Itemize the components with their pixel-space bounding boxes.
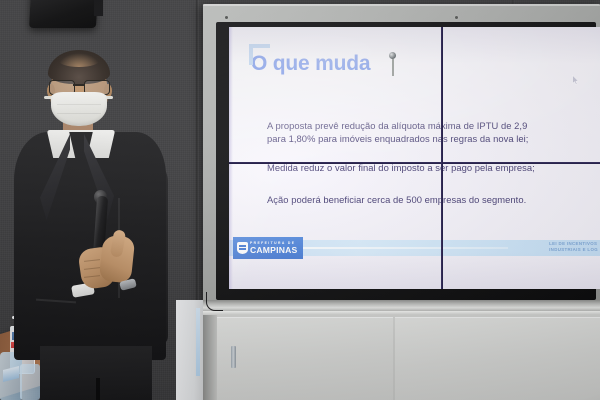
cabinet-lock-slot [392,59,394,76]
presenter-hair [48,50,110,84]
logo-campinas-label: CAMPINAS [250,246,297,255]
footer-campaign-line-2: INDUSTRIAIS E LOG [549,247,598,253]
cabinet-door-right[interactable] [395,317,600,400]
screen-edge-glow [229,27,233,289]
presenter [0,48,200,400]
slide-body-line: A proposta prevê redução da alíquota máx… [267,119,600,132]
slide-title-group: O que muda [251,53,370,74]
video-wall-vertical-seam [441,27,443,289]
presentation-slide: O que muda A proposta prevê redução da a… [229,27,600,289]
ceiling-speaker-icon [29,0,98,28]
display-screen[interactable]: O que muda A proposta prevê redução da a… [229,27,600,289]
slide-body-line: Ação poderá beneficiar cerca de 500 empr… [267,193,600,206]
cabinet-side-panel [203,300,217,400]
cabinet-door-left[interactable] [217,317,393,400]
face-mask [51,92,107,126]
slide-paragraph-3: Ação poderá beneficiar cerca de 500 empr… [267,193,600,206]
photo-scene: O que muda A proposta prevê redução da a… [0,0,600,400]
footer-divider-line [301,247,508,249]
cabinet-lock-icon[interactable] [389,52,396,59]
trouser-leg-gap [96,378,100,400]
speaker-bracket [94,0,103,16]
shield-crest-icon [237,242,248,254]
slide-body: A proposta prevê redução da alíquota máx… [267,119,600,222]
storage-cabinet[interactable] [203,300,600,400]
slide-body-line: para 1,80% para imóveis enquadrados nas … [267,132,600,145]
campinas-logo: PREFEITURA DE CAMPINAS [233,237,303,259]
mouse-pointer-icon [572,75,579,85]
cabinet-lip [203,311,600,315]
slide-paragraph-1: A proposta prevê redução da alíquota máx… [267,119,600,145]
frame-screw [225,16,228,19]
cabinet-top-rail [203,300,600,311]
cabinet-handle[interactable] [231,346,236,368]
eyeglass-bridge [73,84,84,86]
corner-bracket-icon [249,44,270,65]
footer-campaign-text: LEI DE INCENTIVOS INDUSTRIAIS E LOG [549,241,598,253]
display-cable [206,292,223,311]
slide-footer: PREFEITURA DE CAMPINAS LEI DE INCENTIVOS… [229,237,600,259]
logo-text-group: PREFEITURA DE CAMPINAS [250,242,297,255]
frame-screw [455,16,458,19]
video-wall-display[interactable]: O que muda A proposta prevê redução da a… [203,4,600,309]
video-wall-horizontal-seam [229,162,600,164]
